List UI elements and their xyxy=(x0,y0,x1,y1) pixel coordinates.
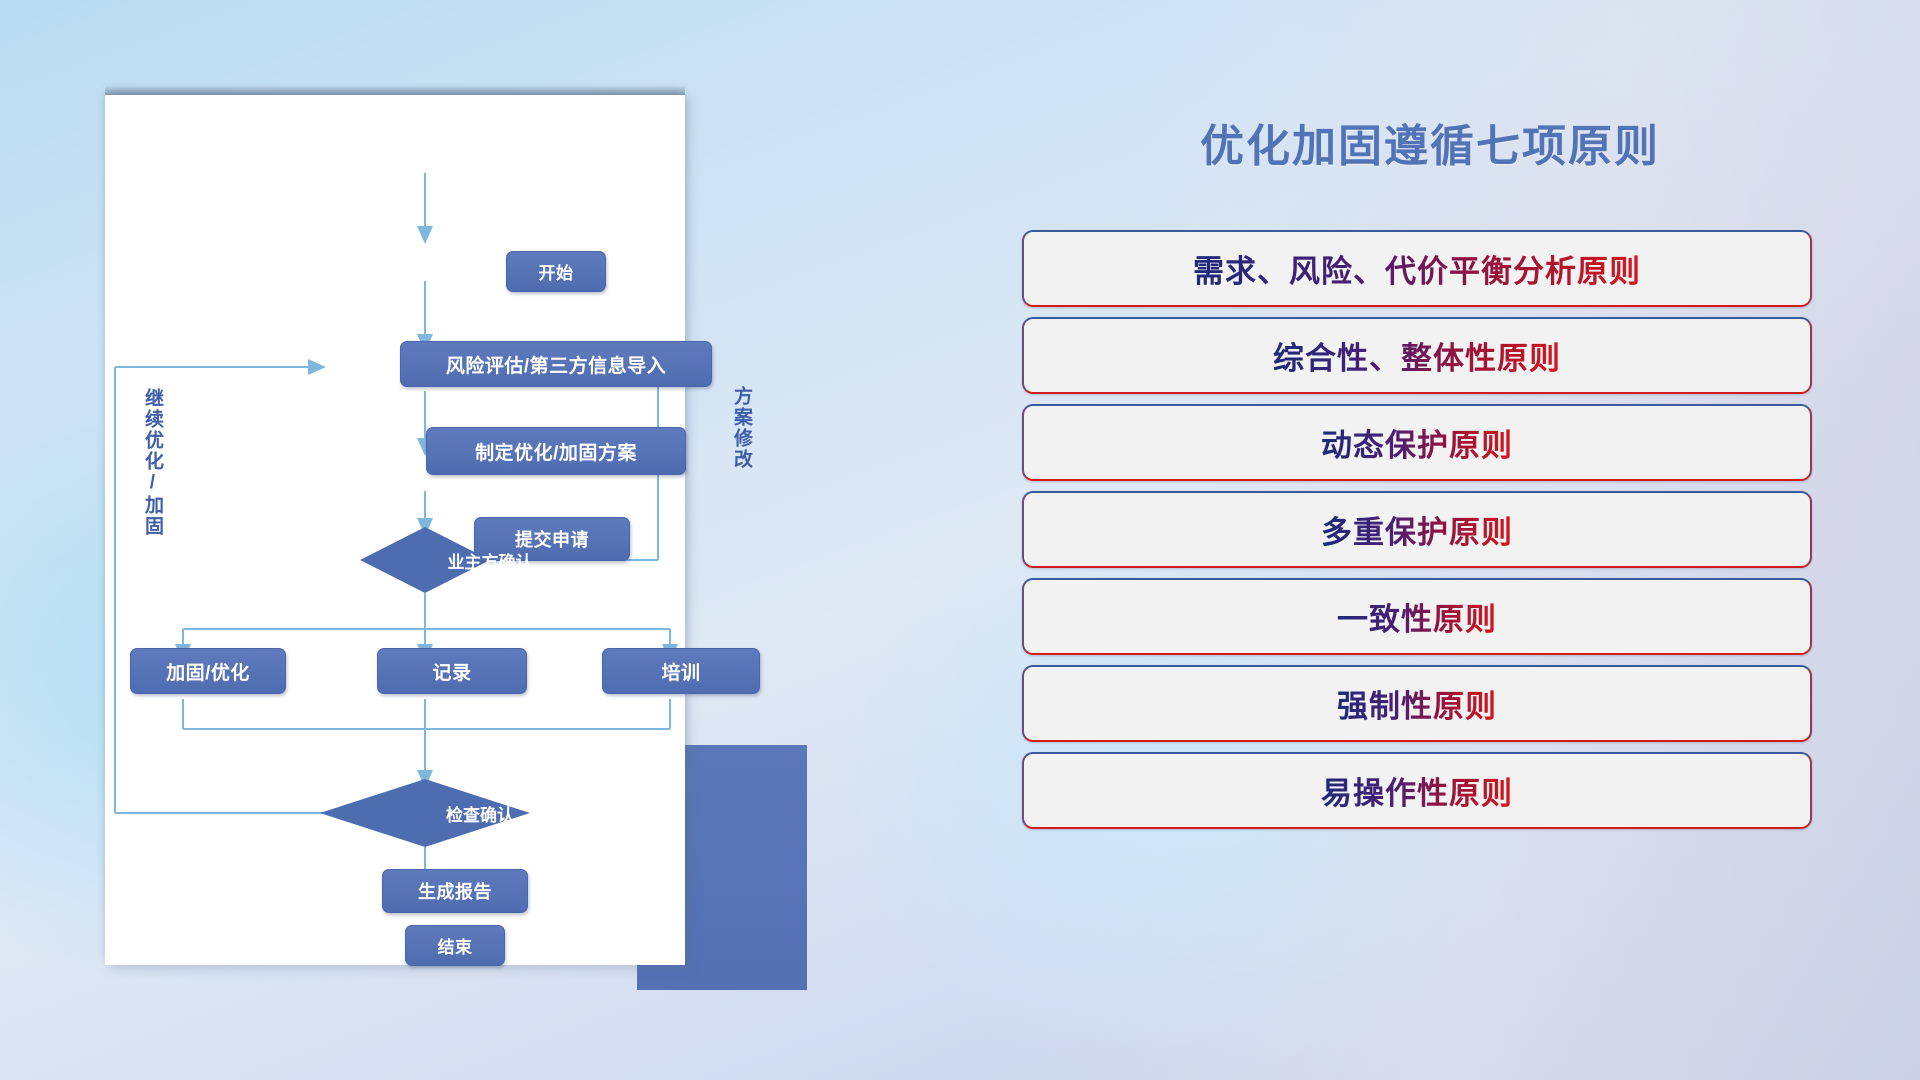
principle-card-2-label: 综合性、整体性原则 xyxy=(1273,333,1561,378)
principle-card-6[interactable]: 强制性原则 xyxy=(1022,665,1812,742)
flow-node-risk-assessment-label: 风险评估/第三方信息导入 xyxy=(446,351,666,378)
flow-node-generate-report-label: 生成报告 xyxy=(418,878,492,904)
flow-node-risk-assessment[interactable]: 风险评估/第三方信息导入 xyxy=(400,341,712,387)
principles-list: 需求、风险、代价平衡分析原则 综合性、整体性原则 动态保护原则 多重保护原则 一… xyxy=(1022,230,1812,839)
flow-node-make-plan[interactable]: 制定优化/加固方案 xyxy=(426,427,686,475)
flow-node-generate-report[interactable]: 生成报告 xyxy=(382,869,528,913)
flow-node-training-label: 培训 xyxy=(661,658,700,685)
flow-node-check-confirm-label: 检查确认 xyxy=(446,801,514,826)
flow-node-reinforce[interactable]: 加固/优化 xyxy=(130,648,286,694)
principle-card-7[interactable]: 易操作性原则 xyxy=(1022,752,1812,829)
principle-card-3-label: 动态保护原则 xyxy=(1321,420,1513,465)
flow-node-record[interactable]: 记录 xyxy=(377,648,527,694)
principle-card-6-label: 强制性原则 xyxy=(1337,681,1497,726)
principle-card-3[interactable]: 动态保护原则 xyxy=(1022,404,1812,481)
principle-card-1[interactable]: 需求、风险、代价平衡分析原则 xyxy=(1022,230,1812,307)
flow-node-check-confirm[interactable]: 检查确认 xyxy=(320,779,640,847)
principle-card-2[interactable]: 综合性、整体性原则 xyxy=(1022,317,1812,394)
principle-card-4-label: 多重保护原则 xyxy=(1321,507,1513,552)
flow-node-end-label: 结束 xyxy=(438,933,473,958)
principle-card-5-label: 一致性原则 xyxy=(1337,594,1497,639)
flow-node-end[interactable]: 结束 xyxy=(405,925,505,966)
principle-card-4[interactable]: 多重保护原则 xyxy=(1022,491,1812,568)
flow-node-owner-confirm[interactable]: 业主方确认 xyxy=(360,527,620,593)
flow-node-make-plan-label: 制定优化/加固方案 xyxy=(475,438,637,465)
flow-node-record-label: 记录 xyxy=(432,658,471,685)
flow-node-reinforce-label: 加固/优化 xyxy=(166,658,250,685)
flow-node-owner-confirm-label: 业主方确认 xyxy=(448,548,533,573)
principle-card-7-label: 易操作性原则 xyxy=(1321,768,1513,813)
edge-label-plan-revision: 方案修改 xyxy=(731,386,751,470)
edge-label-continue-optimize: 继续优化/加固 xyxy=(142,388,162,537)
principles-title: 优化加固遵循七项原则 xyxy=(1020,110,1840,174)
flow-node-training[interactable]: 培训 xyxy=(602,648,760,694)
principle-card-5[interactable]: 一致性原则 xyxy=(1022,578,1812,655)
flow-node-start[interactable]: 开始 xyxy=(506,251,606,292)
principle-card-1-label: 需求、风险、代价平衡分析原则 xyxy=(1193,246,1641,291)
flow-node-start-label: 开始 xyxy=(539,259,574,284)
